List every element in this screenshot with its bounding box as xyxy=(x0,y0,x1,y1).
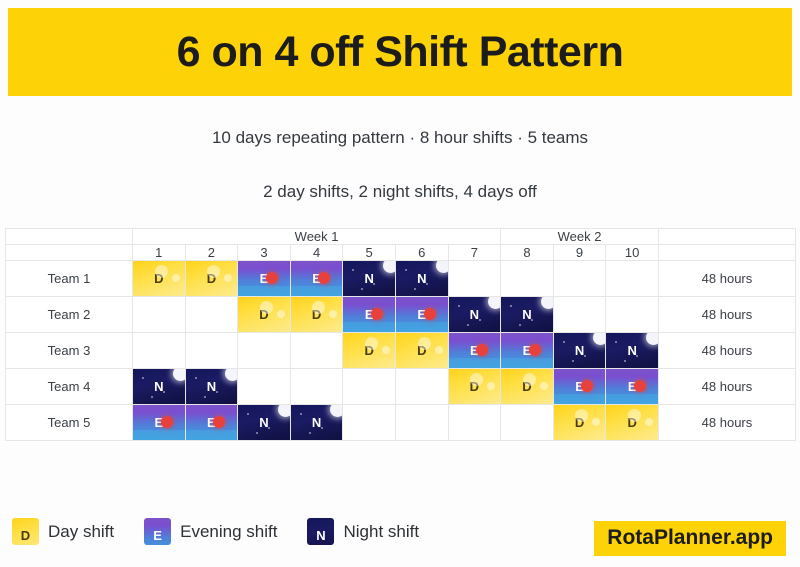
shift-cell-off[interactable] xyxy=(238,369,291,405)
day-row-corner xyxy=(6,245,133,261)
shift-chip-evening: E xyxy=(449,333,501,368)
setting-sun-icon xyxy=(266,272,278,284)
hours-column-header xyxy=(658,229,795,245)
setting-sun-icon xyxy=(371,308,383,320)
day-number-4: 4 xyxy=(290,245,343,261)
day-number-8: 8 xyxy=(501,245,554,261)
moon-icon xyxy=(593,333,605,345)
setting-sun-icon xyxy=(634,380,646,392)
table-row: Team 2DDEENN48 hours xyxy=(6,297,796,333)
shift-chip-day: D xyxy=(186,261,238,296)
sun-blob-icon xyxy=(382,346,390,354)
star-icon xyxy=(405,269,407,271)
star-icon xyxy=(624,360,626,362)
shift-chip-day: D xyxy=(606,405,658,440)
shift-chip-evening: E xyxy=(554,369,606,404)
shift-cell-off[interactable] xyxy=(238,333,291,369)
shift-cell-night[interactable]: N xyxy=(290,405,343,441)
shift-chip-day: D xyxy=(449,369,501,404)
shift-cell-night[interactable]: N xyxy=(553,333,606,369)
shift-cell-night[interactable]: N xyxy=(501,297,554,333)
sun-blob-icon xyxy=(628,409,641,422)
sun-blob-icon xyxy=(224,274,232,282)
shift-cell-night[interactable]: N xyxy=(185,369,238,405)
day-number-10: 10 xyxy=(606,245,659,261)
setting-sun-icon xyxy=(213,416,225,428)
shift-cell-off[interactable] xyxy=(448,261,501,297)
shift-cell-day[interactable]: D xyxy=(185,261,238,297)
star-icon xyxy=(519,324,521,326)
star-icon xyxy=(615,341,617,343)
moon-icon xyxy=(488,297,500,309)
star-icon xyxy=(142,377,144,379)
star-icon xyxy=(256,432,258,434)
shift-cell-day[interactable]: D xyxy=(553,405,606,441)
shift-cell-off[interactable] xyxy=(343,405,396,441)
shift-chip-evening: E xyxy=(291,261,343,296)
shift-cell-evening[interactable]: E xyxy=(606,369,659,405)
star-icon xyxy=(195,377,197,379)
shift-cell-night[interactable]: N xyxy=(133,369,186,405)
sun-blob-icon xyxy=(329,310,337,318)
shift-chip-night: N xyxy=(554,333,606,368)
day-number-1: 1 xyxy=(133,245,186,261)
page-title: 6 on 4 off Shift Pattern xyxy=(177,31,624,74)
shift-chip-evening: E xyxy=(501,333,553,368)
week-header-row: Week 1 Week 2 xyxy=(6,229,796,245)
legend-label-evening: Evening shift xyxy=(180,522,277,542)
moon-icon xyxy=(436,261,448,273)
team-label: Team 2 xyxy=(6,297,133,333)
sun-blob-icon xyxy=(592,418,600,426)
shift-cell-evening[interactable]: E xyxy=(343,297,396,333)
setting-sun-icon xyxy=(581,380,593,392)
shift-cell-day[interactable]: D xyxy=(133,261,186,297)
shift-chip-evening: E xyxy=(343,297,395,332)
shift-cell-day[interactable]: D xyxy=(606,405,659,441)
horizon-band xyxy=(291,286,343,296)
star-icon xyxy=(216,391,218,393)
shift-chip-night: N xyxy=(238,405,290,440)
table-row: Team 1DDEENN48 hours xyxy=(6,261,796,297)
shift-cell-night[interactable]: N xyxy=(606,333,659,369)
sun-blob-icon xyxy=(540,382,548,390)
shift-chip-evening: E xyxy=(606,369,658,404)
shift-cell-evening[interactable]: E xyxy=(185,405,238,441)
shift-chip-day: D xyxy=(133,261,185,296)
day-number-5: 5 xyxy=(343,245,396,261)
moon-icon xyxy=(541,297,553,309)
star-icon xyxy=(458,305,460,307)
sun-blob-icon xyxy=(172,274,180,282)
sun-blob-icon xyxy=(277,310,285,318)
shift-chip-day: D xyxy=(501,369,553,404)
shift-cell-off[interactable] xyxy=(501,261,554,297)
shift-cell-off[interactable] xyxy=(290,333,343,369)
sun-blob-icon xyxy=(260,301,273,314)
shift-chip-evening: E xyxy=(133,405,185,440)
shift-cell-off[interactable] xyxy=(133,333,186,369)
legend-label-night: Night shift xyxy=(343,522,419,542)
sun-blob-icon xyxy=(207,265,220,278)
star-icon xyxy=(426,283,428,285)
week-group-1: Week 1 xyxy=(133,229,501,245)
weekly-hours: 48 hours xyxy=(658,297,795,333)
star-icon xyxy=(510,305,512,307)
setting-sun-icon xyxy=(424,308,436,320)
team-label: Team 5 xyxy=(6,405,133,441)
weekly-hours: 48 hours xyxy=(658,261,795,297)
table-row: Team 3DDEENN48 hours xyxy=(6,333,796,369)
shift-cell-day[interactable]: D xyxy=(238,297,291,333)
moon-icon xyxy=(383,261,395,273)
shift-cell-evening[interactable]: E xyxy=(133,405,186,441)
shift-cell-evening[interactable]: E xyxy=(395,297,448,333)
shift-chip-night: N xyxy=(501,297,553,332)
shift-pattern-table: Week 1 Week 2 1 2 3 4 5 6 7 8 9 10 Team … xyxy=(5,228,796,441)
legend-item-night: N Night shift xyxy=(307,518,419,545)
star-icon xyxy=(563,341,565,343)
shift-cell-day[interactable]: D xyxy=(448,369,501,405)
shift-chip-night: N xyxy=(291,405,343,440)
shift-chip-night: N xyxy=(186,369,238,404)
shift-chip-day: D xyxy=(396,333,448,368)
shift-chip-evening: E xyxy=(238,261,290,296)
star-icon xyxy=(151,396,153,398)
star-icon xyxy=(309,432,311,434)
shift-cell-day[interactable]: D xyxy=(290,297,343,333)
horizon-band xyxy=(396,322,448,332)
subtitle-secondary: 2 day shifts, 2 night shifts, 4 days off xyxy=(0,182,800,202)
legend-label-day: Day shift xyxy=(48,522,114,542)
horizon-band xyxy=(501,358,553,368)
shift-cell-evening[interactable]: E xyxy=(238,261,291,297)
setting-sun-icon xyxy=(476,344,488,356)
horizon-band xyxy=(186,430,238,440)
star-icon xyxy=(572,360,574,362)
shift-cell-off[interactable] xyxy=(290,369,343,405)
shift-cell-off[interactable] xyxy=(606,261,659,297)
sun-blob-icon xyxy=(523,373,536,386)
shift-cell-night[interactable]: N xyxy=(343,261,396,297)
horizon-band xyxy=(343,322,395,332)
legend-swatch-day: D xyxy=(12,518,39,545)
sun-blob-icon xyxy=(365,337,378,350)
star-icon xyxy=(361,288,363,290)
shift-chip-day: D xyxy=(554,405,606,440)
hours-row-corner xyxy=(658,245,795,261)
shift-cell-off[interactable] xyxy=(343,369,396,405)
weekly-hours: 48 hours xyxy=(658,333,795,369)
sun-blob-icon xyxy=(575,409,588,422)
setting-sun-icon xyxy=(318,272,330,284)
moon-icon: N xyxy=(307,518,334,545)
star-icon xyxy=(268,427,270,429)
setting-sun-icon xyxy=(529,344,541,356)
star-icon xyxy=(467,324,469,326)
star-icon xyxy=(352,269,354,271)
shift-chip-day: D xyxy=(291,297,343,332)
day-number-9: 9 xyxy=(553,245,606,261)
shift-chip-night: N xyxy=(449,297,501,332)
shift-cell-off[interactable] xyxy=(448,405,501,441)
day-number-row: 1 2 3 4 5 6 7 8 9 10 xyxy=(6,245,796,261)
shift-chip-night: N xyxy=(396,261,448,296)
shift-cell-evening[interactable]: E xyxy=(553,369,606,405)
horizon-band xyxy=(554,394,606,404)
shift-cell-night[interactable]: N xyxy=(448,297,501,333)
shift-cell-evening[interactable]: E xyxy=(501,333,554,369)
brand-badge[interactable]: RotaPlanner.app xyxy=(594,521,786,556)
star-icon xyxy=(321,427,323,429)
day-number-6: 6 xyxy=(395,245,448,261)
horizon-band xyxy=(449,358,501,368)
shift-cell-off[interactable] xyxy=(606,297,659,333)
sun-blob-icon xyxy=(418,337,431,350)
shift-pattern-infographic: 6 on 4 off Shift Pattern 10 days repeati… xyxy=(0,0,800,567)
shift-cell-off[interactable] xyxy=(133,297,186,333)
shift-chip-day: D xyxy=(238,297,290,332)
subtitle-primary: 10 days repeating pattern · 8 hour shift… xyxy=(0,128,800,148)
legend: D Day shift E Evening shift N Night shif… xyxy=(12,518,419,545)
table-row: Team 4NNDDEE48 hours xyxy=(6,369,796,405)
week-group-2: Week 2 xyxy=(501,229,659,245)
shift-cell-off[interactable] xyxy=(395,369,448,405)
moon-icon xyxy=(173,369,185,381)
star-icon xyxy=(479,319,481,321)
shift-cell-off[interactable] xyxy=(395,405,448,441)
shift-cell-off[interactable] xyxy=(553,261,606,297)
day-number-7: 7 xyxy=(448,245,501,261)
moon-icon xyxy=(278,405,290,417)
weekly-hours: 48 hours xyxy=(658,369,795,405)
legend-item-evening: E Evening shift xyxy=(144,518,277,545)
setting-sun-icon xyxy=(161,416,173,428)
shift-chip-evening: E xyxy=(396,297,448,332)
shift-cell-day[interactable]: D xyxy=(343,333,396,369)
team-column-header xyxy=(6,229,133,245)
horizon-band xyxy=(606,394,658,404)
star-icon xyxy=(531,319,533,321)
shift-cell-night[interactable]: N xyxy=(395,261,448,297)
shift-chip-evening: E xyxy=(186,405,238,440)
shift-cell-day[interactable]: D xyxy=(395,333,448,369)
day-number-2: 2 xyxy=(185,245,238,261)
shift-chip-day: D xyxy=(343,333,395,368)
star-icon xyxy=(584,355,586,357)
sun-blob-icon xyxy=(435,346,443,354)
shift-cell-off[interactable] xyxy=(185,333,238,369)
shift-chip-night: N xyxy=(133,369,185,404)
team-label: Team 1 xyxy=(6,261,133,297)
team-label: Team 3 xyxy=(6,333,133,369)
star-icon xyxy=(636,355,638,357)
star-icon xyxy=(247,413,249,415)
shift-chip-night: N xyxy=(343,261,395,296)
sun-icon: D xyxy=(12,518,39,545)
sunset-icon: E xyxy=(144,518,171,545)
table-header: Week 1 Week 2 1 2 3 4 5 6 7 8 9 10 xyxy=(6,229,796,261)
shift-cell-off[interactable] xyxy=(501,405,554,441)
table-row: Team 5EENNDD48 hours xyxy=(6,405,796,441)
shift-cell-off[interactable] xyxy=(185,297,238,333)
shift-cell-day[interactable]: D xyxy=(501,369,554,405)
table-body: Team 1DDEENN48 hoursTeam 2DDEENN48 hours… xyxy=(6,261,796,441)
sun-blob-icon xyxy=(155,265,168,278)
star-icon xyxy=(373,283,375,285)
horizon-band xyxy=(133,430,185,440)
legend-swatch-night: N xyxy=(307,518,334,545)
moon-icon xyxy=(330,405,342,417)
title-banner: 6 on 4 off Shift Pattern xyxy=(8,8,792,96)
star-icon xyxy=(163,391,165,393)
star-icon xyxy=(204,396,206,398)
shift-cell-off[interactable] xyxy=(553,297,606,333)
sun-blob-icon xyxy=(312,301,325,314)
shift-cell-night[interactable]: N xyxy=(238,405,291,441)
moon-icon xyxy=(225,369,237,381)
legend-item-day: D Day shift xyxy=(12,518,114,545)
legend-swatch-evening: E xyxy=(144,518,171,545)
sun-blob-icon xyxy=(645,418,653,426)
sun-blob-icon xyxy=(487,382,495,390)
moon-icon xyxy=(646,333,658,345)
star-icon xyxy=(414,288,416,290)
horizon-band xyxy=(238,286,290,296)
shift-cell-evening[interactable]: E xyxy=(290,261,343,297)
shift-cell-evening[interactable]: E xyxy=(448,333,501,369)
day-number-3: 3 xyxy=(238,245,291,261)
sun-blob-icon xyxy=(470,373,483,386)
shift-chip-night: N xyxy=(606,333,658,368)
weekly-hours: 48 hours xyxy=(658,405,795,441)
team-label: Team 4 xyxy=(6,369,133,405)
star-icon xyxy=(300,413,302,415)
